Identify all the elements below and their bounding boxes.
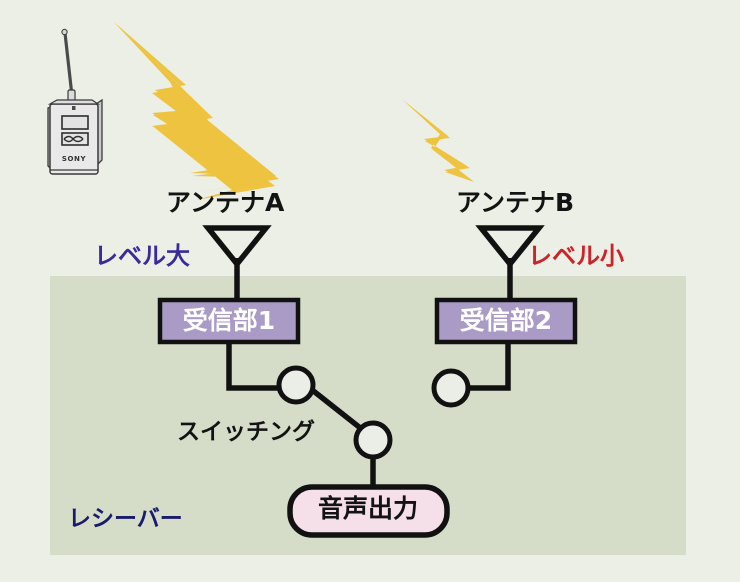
audio-output-label: 音声出力 bbox=[296, 496, 440, 521]
receiver-unit-1-label: 受信部1 bbox=[163, 308, 295, 333]
level-low-label: レベル小 bbox=[528, 244, 624, 268]
switching-label: スイッチング bbox=[177, 421, 315, 444]
switch-contact-b-icon[interactable] bbox=[434, 371, 468, 405]
diagram-canvas: SONY アンテナA bbox=[0, 0, 740, 582]
wireless-transmitter-icon: SONY bbox=[48, 29, 102, 174]
antenna-b-label: アンテナB bbox=[456, 190, 574, 215]
receiver-panel-label: レシーバー bbox=[68, 508, 183, 531]
svg-text:SONY: SONY bbox=[62, 155, 87, 163]
antenna-a-label: アンテナA bbox=[166, 190, 284, 215]
switch-common-contact-icon[interactable] bbox=[356, 423, 390, 457]
switch-contact-a-icon[interactable] bbox=[279, 368, 313, 402]
receiver-unit-2-label: 受信部2 bbox=[440, 308, 572, 333]
level-high-label: レベル大 bbox=[94, 244, 190, 268]
